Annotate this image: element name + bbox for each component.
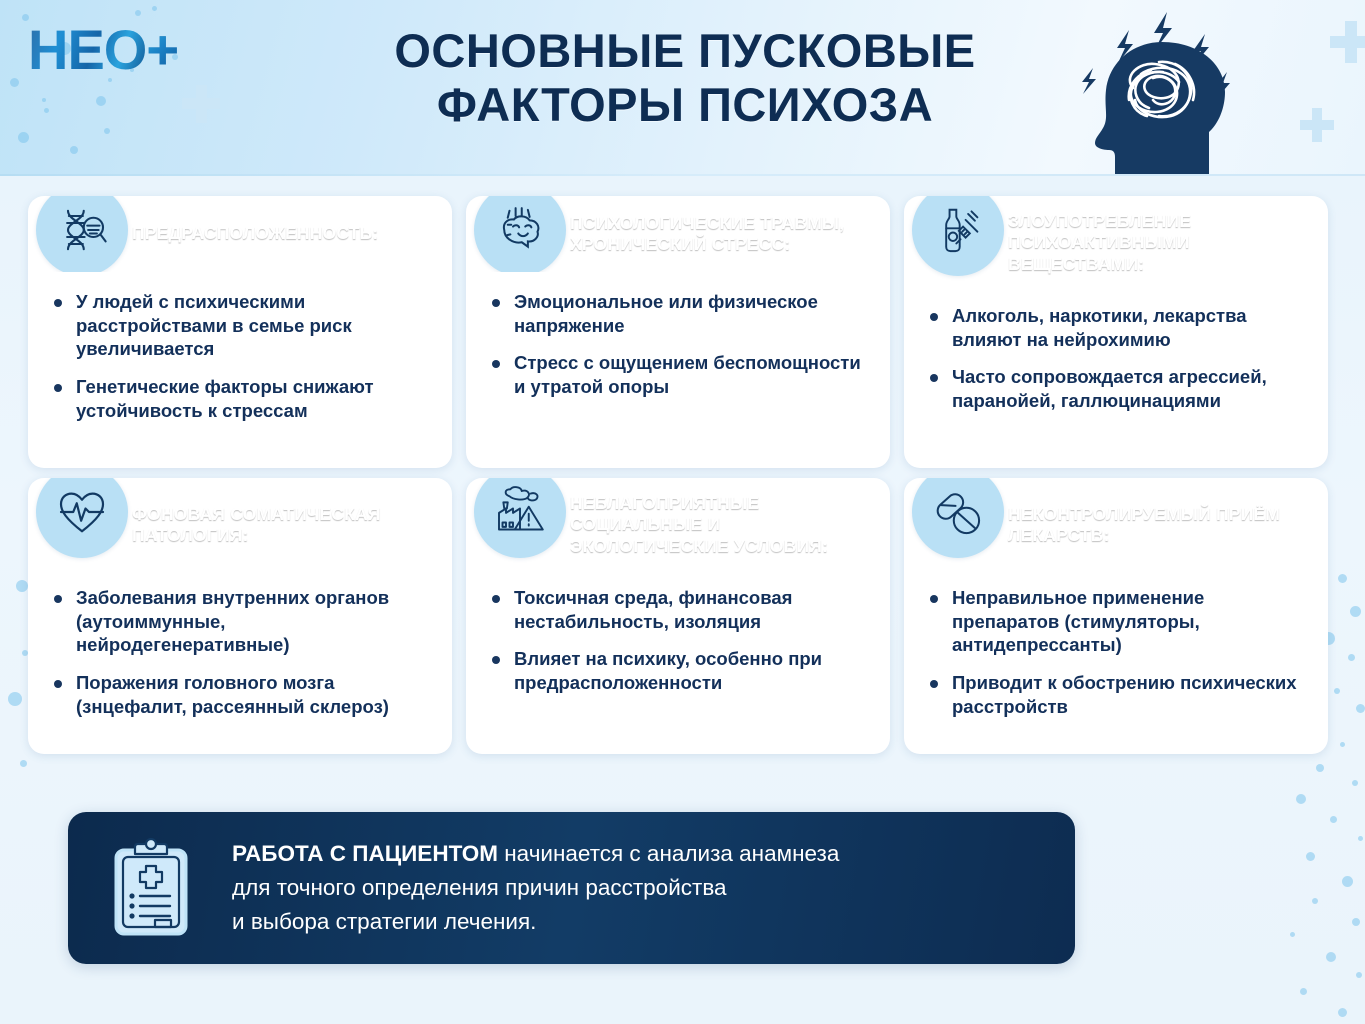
card-title: НЕКОНТРОЛИРУЕМЫЙ ПРИЁМ ЛЕКАРСТВ: bbox=[1008, 504, 1314, 547]
footer-line-1: РАБОТА С ПАЦИЕНТОМ начинается с анализа … bbox=[232, 837, 839, 871]
bullet-list: Эмоциональное или физическое напряжение … bbox=[488, 290, 872, 399]
list-item: Влияет на психику, особенно при предрасп… bbox=[488, 647, 872, 694]
page-title: ОСНОВНЫЕ ПУСКОВЫЕ ФАКТОРЫ ПСИХОЗА bbox=[340, 24, 1030, 131]
brand-logo[interactable]: НЕО+ bbox=[28, 22, 178, 78]
card-title: ЗЛОУПОТРЕБЛЕНИЕ ПСИХОАКТИВНЫМИ ВЕЩЕСТВАМ… bbox=[1008, 211, 1314, 275]
brand-logo-text: НЕО bbox=[28, 18, 146, 81]
card-title: ПРЕДРАСПОЛОЖЕННОСТЬ: bbox=[132, 223, 378, 244]
heart-pulse-icon bbox=[36, 478, 128, 558]
card-body: Алкоголь, наркотики, лекарства влияют на… bbox=[904, 290, 1328, 441]
list-item: Стресс с ощущением беспомощности и утрат… bbox=[488, 351, 872, 398]
footer-callout-banner: РАБОТА С ПАЦИЕНТОМ начинается с анализа … bbox=[68, 812, 1075, 964]
list-item: Токсичная среда, финансовая нестабильнос… bbox=[488, 586, 872, 633]
factor-card-psychological-trauma[interactable]: ПСИХОЛОГИЧЕСКИЕ ТРАВМЫ, ХРОНИЧЕСКИЙ СТРЕ… bbox=[466, 196, 890, 468]
factor-cards-grid: ПРЕДРАСПОЛОЖЕННОСТЬ: У людей с психическ… bbox=[28, 196, 1338, 754]
list-item: Эмоциональное или физическое напряжение bbox=[488, 290, 872, 337]
card-header: ПСИХОЛОГИЧЕСКИЕ ТРАВМЫ, ХРОНИЧЕСКИЙ СТРЕ… bbox=[466, 196, 890, 272]
bottle-syringe-icon bbox=[912, 196, 1004, 276]
list-item: Часто сопровождается агрессией, паранойе… bbox=[926, 365, 1310, 412]
stressed-brain-icon bbox=[474, 196, 566, 272]
page-title-line2: ФАКТОРЫ ПСИХОЗА bbox=[437, 78, 933, 131]
list-item: Приводит к обострению психических расстр… bbox=[926, 671, 1310, 718]
card-header: НЕКОНТРОЛИРУЕМЫЙ ПРИЁМ ЛЕКАРСТВ: bbox=[904, 478, 1328, 572]
card-title: ПСИХОЛОГИЧЕСКИЕ ТРАВМЫ, ХРОНИЧЕСКИЙ СТРЕ… bbox=[570, 213, 876, 256]
factor-card-substance-abuse[interactable]: ЗЛОУПОТРЕБЛЕНИЕ ПСИХОАКТИВНЫМИ ВЕЩЕСТВАМ… bbox=[904, 196, 1328, 468]
plus-decoration-icon bbox=[182, 98, 220, 109]
factor-card-uncontrolled-medication[interactable]: НЕКОНТРОЛИРУЕМЫЙ ПРИЁМ ЛЕКАРСТВ: Неправи… bbox=[904, 478, 1328, 754]
bullet-list: Токсичная среда, финансовая нестабильнос… bbox=[488, 586, 872, 695]
list-item: Генетические факторы снижают устойчивост… bbox=[50, 375, 434, 422]
brand-logo-plus: + bbox=[146, 18, 178, 81]
plus-decoration-icon bbox=[1300, 120, 1334, 130]
dna-magnifier-icon bbox=[36, 196, 128, 272]
card-header: ЗЛОУПОТРЕБЛЕНИЕ ПСИХОАКТИВНЫМИ ВЕЩЕСТВАМ… bbox=[904, 196, 1328, 290]
head-with-tangled-brain-icon bbox=[1059, 4, 1269, 176]
card-body: Токсичная среда, финансовая нестабильнос… bbox=[466, 572, 890, 723]
card-header: ФОНОВАЯ СОМАТИЧЕСКАЯ ПАТОЛОГИЯ: bbox=[28, 478, 452, 572]
list-item: Поражения головного мозга (знцефалит, ра… bbox=[50, 671, 434, 718]
list-item: Заболевания внутренних органов (аутоимму… bbox=[50, 586, 434, 657]
list-item: Алкоголь, наркотики, лекарства влияют на… bbox=[926, 304, 1310, 351]
factory-warning-icon bbox=[474, 478, 566, 558]
bullet-list: У людей с психическими расстройствами в … bbox=[50, 290, 434, 422]
footer-emphasis: РАБОТА С ПАЦИЕНТОМ bbox=[232, 841, 498, 866]
card-header: ПРЕДРАСПОЛОЖЕННОСТЬ: bbox=[28, 196, 452, 272]
bullet-list: Заболевания внутренних органов (аутоимму… bbox=[50, 586, 434, 718]
factor-card-somatic-pathology[interactable]: ФОНОВАЯ СОМАТИЧЕСКАЯ ПАТОЛОГИЯ: Заболева… bbox=[28, 478, 452, 754]
pills-icon bbox=[912, 478, 1004, 558]
card-header: НЕБЛАГОПРИЯТНЫЕ СОЦИАЛЬНЫЕ И ЭКОЛОГИЧЕСК… bbox=[466, 478, 890, 572]
card-title: НЕБЛАГОПРИЯТНЫЕ СОЦИАЛЬНЫЕ И ЭКОЛОГИЧЕСК… bbox=[570, 493, 876, 557]
infographic-page: НЕО+ ОСНОВНЫЕ ПУСКОВЫЕ ФАКТОРЫ ПСИХОЗА bbox=[0, 0, 1365, 1024]
clipboard-medical-icon bbox=[108, 838, 194, 938]
page-title-line1: ОСНОВНЫЕ ПУСКОВЫЕ bbox=[394, 24, 975, 77]
bullet-list: Неправильное применение препаратов (стим… bbox=[926, 586, 1310, 718]
footer-line-1-rest: начинается с анализа анамнеза bbox=[498, 841, 839, 866]
card-body: Заболевания внутренних органов (аутоимму… bbox=[28, 572, 452, 746]
footer-line-3: и выбора стратегии лечения. bbox=[232, 905, 839, 939]
footer-line-2: для точного определения причин расстройс… bbox=[232, 871, 839, 905]
card-title: ФОНОВАЯ СОМАТИЧЕСКАЯ ПАТОЛОГИЯ: bbox=[132, 504, 438, 547]
page-header: НЕО+ ОСНОВНЫЕ ПУСКОВЫЕ ФАКТОРЫ ПСИХОЗА bbox=[0, 0, 1365, 176]
footer-text: РАБОТА С ПАЦИЕНТОМ начинается с анализа … bbox=[232, 837, 839, 940]
card-body: Эмоциональное или физическое напряжение … bbox=[466, 272, 890, 427]
card-body: Неправильное применение препаратов (стим… bbox=[904, 572, 1328, 746]
list-item: У людей с психическими расстройствами в … bbox=[50, 290, 434, 361]
card-body: У людей с психическими расстройствами в … bbox=[28, 272, 452, 450]
bullet-list: Алкоголь, наркотики, лекарства влияют на… bbox=[926, 304, 1310, 413]
factor-card-social-ecological[interactable]: НЕБЛАГОПРИЯТНЫЕ СОЦИАЛЬНЫЕ И ЭКОЛОГИЧЕСК… bbox=[466, 478, 890, 754]
plus-decoration-icon bbox=[1330, 36, 1365, 48]
factor-card-predisposition[interactable]: ПРЕДРАСПОЛОЖЕННОСТЬ: У людей с психическ… bbox=[28, 196, 452, 468]
list-item: Неправильное применение препаратов (стим… bbox=[926, 586, 1310, 657]
